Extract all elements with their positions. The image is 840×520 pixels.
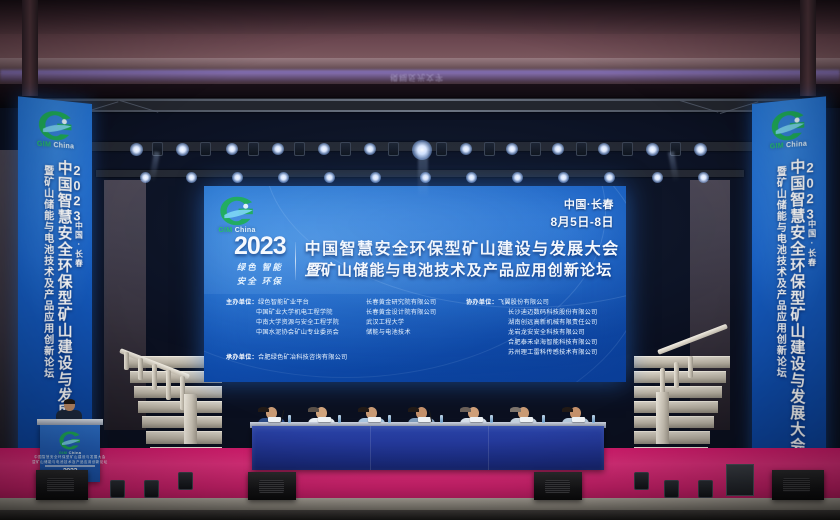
stair-newel-post: [184, 394, 197, 444]
table-skirt-seam: [370, 426, 371, 470]
screen-title-amp: 暨: [305, 263, 321, 279]
conference-stage-photo: 模糊反光文字: [0, 0, 840, 520]
cosponsor-row: 长沙迪迈数码科技股份有限公司: [466, 308, 614, 318]
water-bottle: [490, 415, 493, 423]
organizer-name: 绿色智能矿业平台: [258, 299, 309, 306]
organizer-row: 主办单位：绿色智能矿业平台: [226, 298, 366, 308]
cosponsor-row: 龙岩龙安安全科技有限公司: [466, 328, 614, 338]
name-plate: [520, 417, 533, 422]
stage-light: [512, 172, 523, 183]
stage-monitor-speaker: [534, 472, 582, 500]
water-bottle: [592, 415, 595, 423]
floor-moving-head-light: [634, 472, 649, 490]
podium-conference-line2: 暨矿山储能与电池技术及产品应用创新论坛: [32, 459, 108, 464]
panelist-hair: [510, 407, 521, 412]
undertaker-name: 合肥绿色矿冶科技咨询有限公司: [258, 354, 347, 361]
undertaker-label: 承办单位：: [226, 354, 258, 361]
organizer-row: 中南大学资源与安全工程学院: [226, 318, 366, 328]
stage-light: [552, 143, 564, 155]
title-divider: [295, 242, 296, 280]
screen-undertaker-row: 承办单位：合肥绿色矿冶科技咨询有限公司: [226, 352, 347, 361]
screen-year: 2023: [234, 234, 286, 259]
organizer-row: 长春黄金设计院有限公司: [366, 308, 466, 318]
name-plate: [572, 417, 585, 422]
water-bottle: [440, 415, 443, 423]
screen-title-line1: 中国智慧安全环保型矿山建设与发展大会: [305, 240, 620, 260]
floor-moving-head-light: [698, 480, 713, 498]
stair-baluster: [674, 362, 679, 388]
screen-location: 中国·长春: [550, 198, 614, 214]
podium-top-surface: [37, 419, 103, 425]
name-plate: [418, 417, 431, 422]
stair-newel-post: [656, 392, 669, 444]
organizer-row: 长春黄金研究院有限公司: [366, 298, 466, 308]
screen-slogan-line1: 绿色 智能: [234, 262, 286, 273]
equipment-rack-case: [726, 464, 754, 496]
panelist-hair: [562, 407, 573, 412]
banner-sub-title-left: 暨矿山储能与电池技术及产品应用创新论坛: [40, 164, 55, 379]
stage-light: [558, 172, 569, 183]
stair-step: [142, 416, 222, 428]
gim-swoosh-logo-icon: [769, 106, 807, 144]
screen-title-block: 2023 绿色 智能 安全 环保 中国智慧安全环保型矿山建设与发展大会 暨矿山储…: [234, 234, 620, 288]
stage-light: [698, 172, 709, 183]
side-banner-right: GIM China 2023 中国智慧安全环保型矿山建设与发展大会 中国·长春 …: [752, 96, 826, 487]
screen-dates: 8月5日-8日: [550, 214, 614, 231]
floor-moving-head-light: [144, 480, 159, 498]
stage-monitor-speaker: [772, 470, 824, 500]
screen-logo: GIM China: [218, 194, 256, 234]
stage-front-shadow: [0, 510, 840, 520]
truss-rail-a: [24, 99, 816, 101]
floor-moving-head-light: [178, 472, 193, 490]
truss-rail-b: [24, 110, 816, 112]
stair-step: [634, 356, 730, 368]
moving-head-fixture: [200, 142, 211, 156]
stair-baluster: [152, 364, 157, 390]
water-bottle: [288, 415, 291, 423]
panelist-hair: [408, 407, 419, 412]
moving-head-fixture: [484, 142, 495, 156]
organizer-row: 中国水泥协会矿山专业委员会: [226, 328, 366, 338]
podium-logo: GIM China: [58, 430, 82, 455]
stage-light: [278, 172, 289, 183]
moving-head-fixture: [576, 142, 587, 156]
cosponsor-row: 合肥泰禾卓海智能科技有限公司: [466, 338, 614, 348]
moving-head-fixture: [622, 142, 633, 156]
moving-head-fixture: [388, 142, 399, 156]
stage-light: [318, 143, 330, 155]
main-led-screen: GIM China 中国·长春 8月5日-8日 2023 绿色 智能 安全 环保…: [204, 186, 626, 382]
podium-divider: [45, 465, 95, 467]
floor-moving-head-light: [664, 480, 679, 498]
stair-step: [634, 431, 710, 444]
water-bottle: [388, 415, 391, 423]
gim-swoosh-logo-icon: [37, 106, 75, 144]
name-plate: [368, 417, 381, 422]
organizer-column-1: 主办单位：绿色智能矿业平台 中国矿业大学机电工程学院 中南大学资源与安全工程学院…: [226, 298, 366, 358]
organizer-row: 武汉工程大学: [366, 318, 466, 328]
stair-baluster: [124, 352, 129, 370]
moving-head-fixture: [436, 142, 447, 156]
stage-light: [324, 172, 335, 183]
screen-location-block: 中国·长春 8月5日-8日: [550, 198, 614, 231]
cosponsor-row: 协办单位：飞翼股份有限公司: [466, 298, 614, 308]
banner-logo-left: GIM China: [37, 106, 75, 150]
stage-light: [370, 172, 381, 183]
stage-monitor-speaker: [248, 472, 296, 500]
panelist-hair: [308, 407, 319, 412]
organizer-column-2: 长春黄金研究院有限公司 长春黄金设计院有限公司 武汉工程大学 储能与电池技术: [366, 298, 466, 358]
gim-swoosh-logo-icon: [58, 430, 82, 451]
stair-step: [634, 401, 718, 413]
water-bottle: [542, 415, 545, 423]
banner-main-title-right: 中国智慧安全环保型矿山建设与发展大会: [786, 158, 807, 455]
panelist-hair: [460, 407, 471, 412]
name-plate: [268, 417, 281, 422]
moving-head-fixture: [294, 142, 305, 156]
cosponsor-row: 湖南创远高新机械有限责任公司: [466, 318, 614, 328]
stage-light: [176, 143, 189, 156]
speaker-hair: [64, 399, 75, 404]
water-bottle: [338, 415, 341, 423]
table-skirt-seam: [488, 426, 489, 470]
banner-logo-right: GIM China: [769, 106, 807, 150]
stage-light: [232, 172, 243, 183]
stage-light: [420, 172, 431, 183]
moving-head-fixture: [248, 142, 259, 156]
floor-moving-head-light: [110, 480, 125, 498]
moving-head-fixture: [340, 142, 351, 156]
cosponsor-name: 飞翼股份有限公司: [498, 299, 549, 306]
stage-light: [272, 143, 284, 155]
panelist-hair: [358, 407, 369, 412]
banner-location-right: 中国·长春: [806, 219, 817, 267]
screen-year-block: 2023 绿色 智能 安全 环保: [234, 234, 295, 288]
stage-light: [506, 143, 518, 155]
organizer-row: 中国矿业大学机电工程学院: [226, 308, 366, 318]
cosponsor-row: 苏州理工雷科传感技术有限公司: [466, 348, 614, 358]
stage-light: [598, 143, 610, 155]
stair-baluster: [138, 358, 143, 380]
cohost-label: 协办单位：: [466, 299, 498, 306]
stair-step: [634, 416, 714, 428]
stage-light: [460, 143, 472, 155]
name-plate: [470, 417, 483, 422]
hall-pillar-right: [800, 0, 816, 96]
panelist-hair: [258, 407, 269, 412]
stair-baluster: [688, 356, 693, 378]
gim-swoosh-logo-icon: [218, 194, 256, 228]
screen-title-line2: 暨矿山储能与电池技术及产品应用创新论坛: [305, 261, 620, 282]
ceiling-reflection-text: 模糊反光文字: [390, 72, 680, 83]
screen-organizers: 主办单位：绿色智能矿业平台 中国矿业大学机电工程学院 中南大学资源与安全工程学院…: [226, 298, 614, 358]
stage-light: [130, 143, 143, 156]
stage-monitor-speaker: [36, 470, 88, 500]
name-plate: [318, 417, 331, 422]
stage-light: [226, 143, 238, 155]
stage-light: [646, 143, 659, 156]
stage-light: [604, 172, 615, 183]
stair-step: [634, 371, 726, 383]
stage-light: [694, 143, 707, 156]
panel-table: [252, 410, 604, 468]
cosponsor-column: 协办单位：飞翼股份有限公司 长沙迪迈数码科技股份有限公司 湖南创远高新机械有限责…: [466, 298, 614, 358]
banner-location-left: 中国·长春: [74, 221, 85, 268]
stair-step: [634, 386, 722, 398]
organizer-row: 储能与电池技术: [366, 328, 466, 338]
screen-slogan-line2: 安全 环保: [234, 276, 286, 287]
moving-head-fixture: [530, 142, 541, 156]
stage-light: [140, 172, 151, 183]
host-label: 主办单位：: [226, 299, 258, 306]
stage-light: [364, 143, 376, 155]
hall-pillar-left: [22, 0, 38, 96]
banner-sub-title-right: 暨矿山储能与电池技术及产品应用创新论坛: [772, 166, 787, 379]
screen-titles: 中国智慧安全环保型矿山建设与发展大会 暨矿山储能与电池技术及产品应用创新论坛: [305, 240, 620, 282]
speaker-head: [64, 399, 75, 411]
table-skirt: [252, 426, 604, 470]
hall-ceiling-strip: [0, 0, 840, 34]
stair-step: [134, 386, 222, 398]
stage-light: [186, 172, 197, 183]
stage-light: [652, 172, 663, 183]
stage-light: [466, 172, 477, 183]
stair-baluster: [166, 370, 171, 400]
